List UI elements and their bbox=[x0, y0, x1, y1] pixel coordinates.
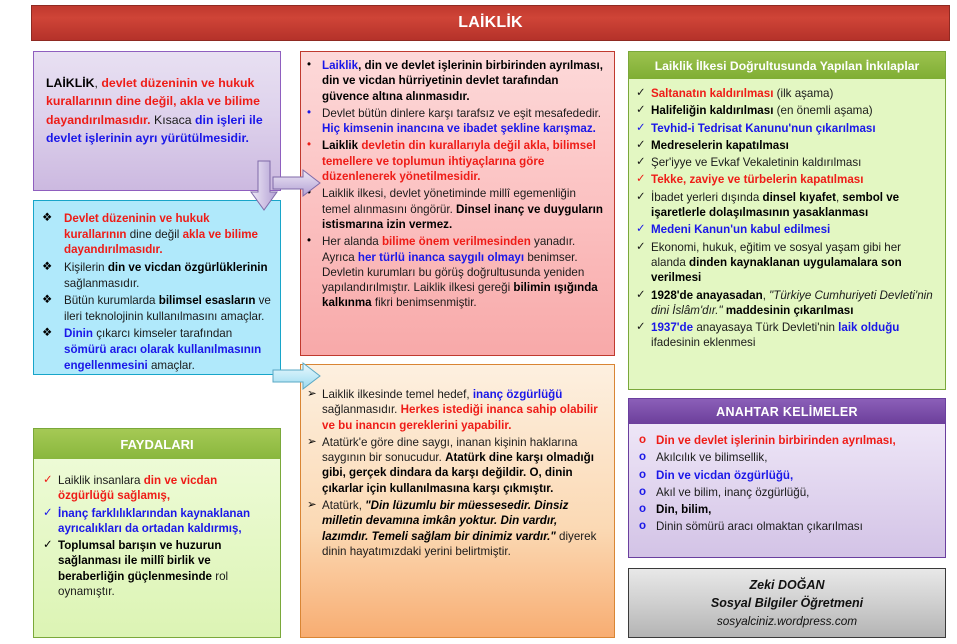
text-run: Saltanatın kaldırılması bbox=[651, 87, 773, 100]
bullet-marker-icon: ➢ bbox=[307, 435, 322, 450]
bullet-marker-icon: ✓ bbox=[636, 172, 651, 187]
text-run: İnanç farklılıklarından kaynaklanan ayrı… bbox=[58, 507, 250, 535]
list-item-text: Laiklik insanlara din ve vicdan özgürlüğ… bbox=[58, 473, 270, 504]
keywords-box: ANAHTAR KELİMELER oDin ve devlet işlerin… bbox=[628, 398, 946, 558]
text-run: İbadet yerleri dışında bbox=[651, 191, 763, 204]
list-item-text: Devlet bütün dinlere karşı tarafsız ve e… bbox=[322, 106, 605, 137]
list-item: oDin ve devlet işlerinin birbirinden ayr… bbox=[639, 433, 937, 448]
text-run: çıkarcı kimseler tarafından bbox=[93, 327, 232, 340]
list-item: ✓Halifeliğin kaldırılması (en önemli aşa… bbox=[636, 103, 937, 118]
list-item-text: 1937'de anayasaya Türk Devleti'nin laik … bbox=[651, 320, 937, 351]
list-item: •Her alanda bilime önem verilmesinden ya… bbox=[307, 234, 605, 310]
reforms-list: ✓Saltanatın kaldırılması (ilk aşama)✓Hal… bbox=[636, 86, 937, 351]
text-run: (ilk aşama) bbox=[773, 87, 833, 100]
list-item-text: Laiklik, din ve devlet işlerinin birbiri… bbox=[322, 58, 605, 104]
list-item: oDin ve vicdan özgürlüğü, bbox=[639, 468, 937, 483]
text-run: her türlü inanca saygılı olmayı bbox=[358, 251, 524, 264]
list-item-text: Laiklik ilkesinde temel hedef, inanç özg… bbox=[322, 387, 605, 433]
text-run: bilimsel esasların bbox=[159, 294, 256, 307]
text-run: dinden kaynaklanan uygulamalara son veri… bbox=[651, 256, 902, 284]
list-item-text: Atatürk, "Din lüzumlu bir müessesedir. D… bbox=[322, 498, 605, 559]
author-website: sosyalciniz.wordpress.com bbox=[717, 613, 857, 630]
list-item: •Laiklik devletin din kurallarıyla değil… bbox=[307, 138, 605, 184]
list-item: ✓İbadet yerleri dışında dinsel kıyafet, … bbox=[636, 190, 937, 221]
bullet-marker-icon: ❖ bbox=[42, 260, 64, 275]
text-run: 1937'de bbox=[651, 321, 693, 334]
list-item: oDinin sömürü aracı olmaktan çıkarılması bbox=[639, 519, 937, 534]
list-item: •Laiklik, din ve devlet işlerinin birbir… bbox=[307, 58, 605, 104]
list-item-text: Ekonomi, hukuk, eğitim ve sosyal yaşam g… bbox=[651, 240, 937, 286]
list-item: ✓Medreselerin kapatılması bbox=[636, 138, 937, 153]
list-item-text: Medeni Kanun'un kabul edilmesi bbox=[651, 222, 937, 237]
bullet-marker-icon: ✓ bbox=[636, 190, 651, 205]
text-run: dinsel kıyafet bbox=[763, 191, 836, 204]
bullet-marker-icon: ✓ bbox=[43, 538, 58, 553]
reforms-box: Laiklik İlkesi Doğrultusunda Yapılan İnk… bbox=[628, 51, 946, 390]
bullet-marker-icon: ✓ bbox=[636, 155, 651, 170]
text-run: Laiklik bbox=[322, 139, 361, 152]
text-run: dine değil bbox=[127, 228, 183, 241]
list-item: ✓1937'de anayasaya Türk Devleti'nin laik… bbox=[636, 320, 937, 351]
text-run: Laiklik insanlara bbox=[58, 474, 144, 487]
list-item-text: Halifeliğin kaldırılması (en önemli aşam… bbox=[651, 103, 937, 118]
definition-box: LAİKLİK, devlet düzeninin ve hukuk kural… bbox=[33, 51, 281, 191]
text-run: Halifeliğin kaldırılması bbox=[651, 104, 773, 117]
bullet-marker-icon: ➢ bbox=[307, 498, 322, 513]
list-item-text: Din ve devlet işlerinin birbirinden ayrı… bbox=[656, 433, 937, 448]
list-item-text: Dinin sömürü aracı olmaktan çıkarılması bbox=[656, 519, 937, 534]
text-run: Dinin bbox=[64, 327, 93, 340]
text-run: Atatürk, bbox=[322, 499, 365, 512]
text-run: , din ve devlet işlerinin birbirinden ay… bbox=[322, 59, 603, 103]
author-role: Sosyal Bilgiler Öğretmeni bbox=[711, 594, 863, 612]
features-box: ❖Devlet düzeninin ve hukuk kurallarının … bbox=[33, 200, 281, 375]
main-points-list: •Laiklik, din ve devlet işlerinin birbir… bbox=[307, 58, 605, 311]
text-run: inanç özgürlüğü bbox=[473, 388, 563, 401]
list-item: ✓Medeni Kanun'un kabul edilmesi bbox=[636, 222, 937, 237]
list-item: ✓Tekke, zaviye ve türbelerin kapatılması bbox=[636, 172, 937, 187]
list-item: oAkıl ve bilim, inanç özgürlüğü, bbox=[639, 485, 937, 500]
bullet-marker-icon: ❖ bbox=[42, 326, 64, 341]
keywords-list: oDin ve devlet işlerinin birbirinden ayr… bbox=[639, 433, 937, 535]
text-run: ifadesinin eklenmesi bbox=[651, 336, 755, 349]
list-item-text: İnanç farklılıklarından kaynaklanan ayrı… bbox=[58, 506, 270, 537]
benefits-box: FAYDALARI ✓Laiklik insanlara din ve vicd… bbox=[33, 428, 281, 638]
list-item-text: Din ve vicdan özgürlüğü, bbox=[656, 468, 937, 483]
text-run: fikri benimsenmiştir. bbox=[372, 296, 477, 309]
bullet-marker-icon: ✓ bbox=[636, 86, 651, 101]
list-item: ❖Kişilerin din ve vicdan özgürlüklerinin… bbox=[42, 260, 272, 291]
bullet-marker-icon: ✓ bbox=[43, 473, 58, 488]
text-run: amaçlar. bbox=[148, 359, 195, 372]
list-item: ✓Toplumsal barışın ve huzurun sağlanması… bbox=[43, 538, 270, 599]
list-item: ✓Ekonomi, hukuk, eğitim ve sosyal yaşam … bbox=[636, 240, 937, 286]
keywords-header: ANAHTAR KELİMELER bbox=[629, 399, 945, 424]
list-item-text: Bütün kurumlarda bilimsel esasların ve i… bbox=[64, 293, 272, 324]
text-run: Şer'iyye ve Evkaf Vekaletinin kaldırılma… bbox=[651, 156, 861, 169]
list-item-text: Şer'iyye ve Evkaf Vekaletinin kaldırılma… bbox=[651, 155, 937, 170]
features-list: ❖Devlet düzeninin ve hukuk kurallarının … bbox=[42, 211, 272, 373]
text-run: 1928'de anayasadan bbox=[651, 289, 763, 302]
list-item: oDin, bilim, bbox=[639, 502, 937, 517]
list-item: ❖Dinin çıkarcı kimseler tarafından sömür… bbox=[42, 326, 272, 373]
secondary-points-box: ➢Laiklik ilkesinde temel hedef, inanç öz… bbox=[300, 364, 615, 638]
text-run: sağlanmasıdır. bbox=[64, 277, 139, 290]
list-item: ✓Şer'iyye ve Evkaf Vekaletinin kaldırılm… bbox=[636, 155, 937, 170]
list-item: ❖Bütün kurumlarda bilimsel esasların ve … bbox=[42, 293, 272, 324]
infographic-page: LAİKLİK LAİKLİK, devlet düzeninin ve huk… bbox=[0, 0, 957, 644]
list-item-text: Atatürk'e göre dine saygı, inanan kişini… bbox=[322, 435, 605, 496]
list-item-text: Laiklik ilkesi, devlet yönetiminde millî… bbox=[322, 186, 605, 232]
bullet-marker-icon: • bbox=[307, 234, 322, 249]
list-item-text: Akılcılık ve bilimsellik, bbox=[656, 450, 937, 465]
bullet-marker-icon: ✓ bbox=[636, 320, 651, 335]
list-item-text: Laiklik devletin din kurallarıyla değil … bbox=[322, 138, 605, 184]
list-item: ➢Atatürk'e göre dine saygı, inanan kişin… bbox=[307, 435, 605, 496]
benefits-header: FAYDALARI bbox=[34, 429, 280, 459]
secondary-points-list: ➢Laiklik ilkesinde temel hedef, inanç öz… bbox=[307, 387, 605, 559]
list-item: ✓İnanç farklılıklarından kaynaklanan ayr… bbox=[43, 506, 270, 537]
list-item-text: Medreselerin kapatılması bbox=[651, 138, 937, 153]
list-item-text: Tevhid-i Tedrisat Kanunu'nun çıkarılması bbox=[651, 121, 937, 136]
list-item-text: Akıl ve bilim, inanç özgürlüğü, bbox=[656, 485, 937, 500]
bullet-marker-icon: ✓ bbox=[636, 240, 651, 255]
text-run: Laiklik bbox=[322, 59, 358, 72]
list-item: ✓Laiklik insanlara din ve vicdan özgürlü… bbox=[43, 473, 270, 504]
bullet-marker-icon: o bbox=[639, 502, 656, 517]
text-run: Din, bilim, bbox=[656, 503, 711, 516]
bullet-marker-icon: ❖ bbox=[42, 211, 64, 226]
bullet-marker-icon: ✓ bbox=[636, 138, 651, 153]
text-run: sağlanmasıdır. bbox=[322, 403, 401, 416]
list-item-text: Kişilerin din ve vicdan özgürlüklerinin … bbox=[64, 260, 272, 291]
bullet-marker-icon: ✓ bbox=[636, 222, 651, 237]
list-item: ➢Laiklik ilkesinde temel hedef, inanç öz… bbox=[307, 387, 605, 433]
bullet-marker-icon: ✓ bbox=[636, 103, 651, 118]
text-run: Tekke, zaviye ve türbelerin kapatılması bbox=[651, 173, 863, 186]
list-item-text: Din, bilim, bbox=[656, 502, 937, 517]
text-run: bilime önem verilmesinden bbox=[382, 235, 531, 248]
page-title: LAİKLİK bbox=[458, 14, 523, 32]
text-run: maddesinin çıkarılması bbox=[723, 304, 854, 317]
bullet-marker-icon: • bbox=[307, 58, 322, 73]
page-title-banner: LAİKLİK bbox=[31, 5, 950, 41]
bullet-marker-icon: ❖ bbox=[42, 293, 64, 308]
list-item-text: Toplumsal barışın ve huzurun sağlanması … bbox=[58, 538, 270, 599]
text-run: anayasaya Türk Devleti'nin bbox=[693, 321, 838, 334]
text-run: Bütün kurumlarda bbox=[64, 294, 159, 307]
list-item: ✓1928'de anayasadan, "Türkiye Cumhuriyet… bbox=[636, 288, 937, 319]
benefits-list: ✓Laiklik insanlara din ve vicdan özgürlü… bbox=[43, 473, 270, 599]
arrow-right-definition-icon bbox=[272, 168, 322, 203]
text-run: (en önemli aşama) bbox=[773, 104, 872, 117]
bullet-marker-icon: • bbox=[307, 138, 322, 153]
text-run: devletin din kurallarıyla değil akla, bi… bbox=[322, 139, 596, 183]
list-item: ✓Saltanatın kaldırılması (ilk aşama) bbox=[636, 86, 937, 101]
text-run: Toplumsal barışın ve huzurun sağlanması … bbox=[58, 539, 221, 583]
bullet-marker-icon: o bbox=[639, 519, 656, 534]
definition-text: LAİKLİK, devlet düzeninin ve hukuk kural… bbox=[34, 52, 280, 158]
list-item-text: Tekke, zaviye ve türbelerin kapatılması bbox=[651, 172, 937, 187]
text-run: Dinin sömürü aracı olmaktan çıkarılması bbox=[656, 520, 863, 533]
text-run: Laiklik ilkesinde temel hedef, bbox=[322, 388, 473, 401]
text-run: Din ve vicdan özgürlüğü, bbox=[656, 469, 793, 482]
bullet-marker-icon: o bbox=[639, 450, 656, 465]
main-points-box: •Laiklik, din ve devlet işlerinin birbir… bbox=[300, 51, 615, 356]
list-item-text: Devlet düzeninin ve hukuk kurallarının d… bbox=[64, 211, 272, 258]
text-run: Kısaca bbox=[151, 113, 195, 127]
text-run: Din ve devlet işlerinin birbirinden ayrı… bbox=[656, 434, 896, 447]
text-run: din ve vicdan özgürlüklerinin bbox=[108, 261, 268, 274]
arrow-right-features-icon bbox=[272, 361, 322, 396]
text-run: Her alanda bbox=[322, 235, 382, 248]
text-run: Akıl ve bilim, inanç özgürlüğü, bbox=[656, 486, 809, 499]
list-item: •Devlet bütün dinlere karşı tarafsız ve … bbox=[307, 106, 605, 137]
list-item: •Laiklik ilkesi, devlet yönetiminde mill… bbox=[307, 186, 605, 232]
list-item-text: 1928'de anayasadan, "Türkiye Cumhuriyeti… bbox=[651, 288, 937, 319]
list-item-text: Dinin çıkarcı kimseler tarafından sömürü… bbox=[64, 326, 272, 373]
text-run: Medreselerin kapatılması bbox=[651, 139, 789, 152]
bullet-marker-icon: ✓ bbox=[636, 121, 651, 136]
list-item-text: Saltanatın kaldırılması (ilk aşama) bbox=[651, 86, 937, 101]
author-signature-box: Zeki DOĞAN Sosyal Bilgiler Öğretmeni sos… bbox=[628, 568, 946, 638]
list-item-text: İbadet yerleri dışında dinsel kıyafet, s… bbox=[651, 190, 937, 221]
bullet-marker-icon: o bbox=[639, 468, 656, 483]
text-run: Hiç kimsenin inancına ve ibadet şekline … bbox=[322, 122, 596, 135]
bullet-marker-icon: o bbox=[639, 485, 656, 500]
reforms-header: Laiklik İlkesi Doğrultusunda Yapılan İnk… bbox=[629, 52, 945, 79]
text-run: Tevhid-i Tedrisat Kanunu'nun çıkarılması bbox=[651, 122, 876, 135]
text-run: laik olduğu bbox=[838, 321, 899, 334]
bullet-marker-icon: • bbox=[307, 106, 322, 121]
text-run: Akılcılık ve bilimsellik, bbox=[656, 451, 767, 464]
text-run: Devlet bütün dinlere karşı tarafsız ve e… bbox=[322, 107, 601, 120]
text-run: Kişilerin bbox=[64, 261, 108, 274]
author-name: Zeki DOĞAN bbox=[749, 576, 824, 594]
text-run: LAİKLİK bbox=[46, 76, 95, 90]
list-item: ❖Devlet düzeninin ve hukuk kurallarının … bbox=[42, 211, 272, 258]
list-item: ➢Atatürk, "Din lüzumlu bir müessesedir. … bbox=[307, 498, 605, 559]
list-item: oAkılcılık ve bilimsellik, bbox=[639, 450, 937, 465]
list-item-text: Her alanda bilime önem verilmesinden yan… bbox=[322, 234, 605, 310]
bullet-marker-icon: o bbox=[639, 433, 656, 448]
text-run: Medeni Kanun'un kabul edilmesi bbox=[651, 223, 830, 236]
bullet-marker-icon: ✓ bbox=[43, 506, 58, 521]
list-item: ✓Tevhid-i Tedrisat Kanunu'nun çıkarılmas… bbox=[636, 121, 937, 136]
bullet-marker-icon: ✓ bbox=[636, 288, 651, 303]
